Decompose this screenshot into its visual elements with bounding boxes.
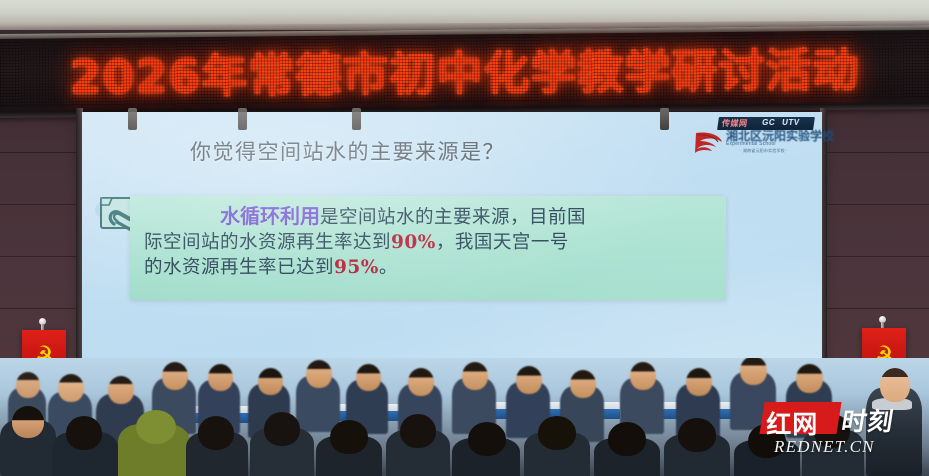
led-banner: 2026年常德市初中化学教学研讨活动 — [0, 25, 929, 118]
answer-line1-rest: 是空间站水的主要来源，目前国 — [320, 207, 586, 228]
school-swirl-icon — [694, 129, 724, 155]
screen-clip — [352, 108, 361, 130]
presenter-head — [880, 368, 910, 402]
school-name-en: Experimental School — [726, 141, 776, 147]
watermark-brand-white: 时刻 — [839, 402, 897, 438]
answer-line3-a: 的水资源再生率已达到 — [144, 257, 334, 278]
answer-line2-b: ，我国天宫一号 — [436, 232, 569, 253]
school-name-en-sub: · 湖南省沅阳市实验学校 · — [740, 148, 788, 154]
screen-clip — [128, 108, 137, 130]
answer-percent-iss: 90% — [391, 232, 436, 253]
screen-clip — [238, 108, 247, 130]
slide-answer-box: 水循环利用是空间站水的主要来源，目前国 际空间站的水资源再生率达到90%，我国天… — [130, 196, 726, 300]
answer-percent-tiangong: 95% — [334, 257, 379, 278]
watermark-brand-red: 红网 — [766, 405, 818, 441]
answer-line2-a: 际空间站的水资源再生率达到 — [144, 232, 391, 253]
watermark-url: REDNET.CN — [774, 437, 875, 457]
screen-clip — [660, 108, 669, 130]
slide-answer-text: 水循环利用是空间站水的主要来源，目前国 际空间站的水资源再生率达到90%，我国天… — [144, 204, 716, 280]
led-banner-text: 2026年常德市初中化学教学研讨活动 — [0, 33, 929, 108]
school-logo: 湘北区沅阳实验学校 Experimental School · 湖南省沅阳市实验… — [694, 126, 826, 160]
answer-keyword: 水循环利用 — [220, 204, 320, 228]
slide-question: 你觉得空间站水的主要来源是？ — [190, 136, 505, 166]
watermark-brand-badge: 红网 — [759, 402, 841, 434]
screenshot-root: 2026年常德市初中化学教学研讨活动 你觉得空间站水的主要来源是？ 水循环利用是… — [0, 0, 929, 476]
answer-line3-b: 。 — [379, 257, 398, 278]
watermark: 红网 时刻 REDNET.CN — [762, 402, 922, 464]
